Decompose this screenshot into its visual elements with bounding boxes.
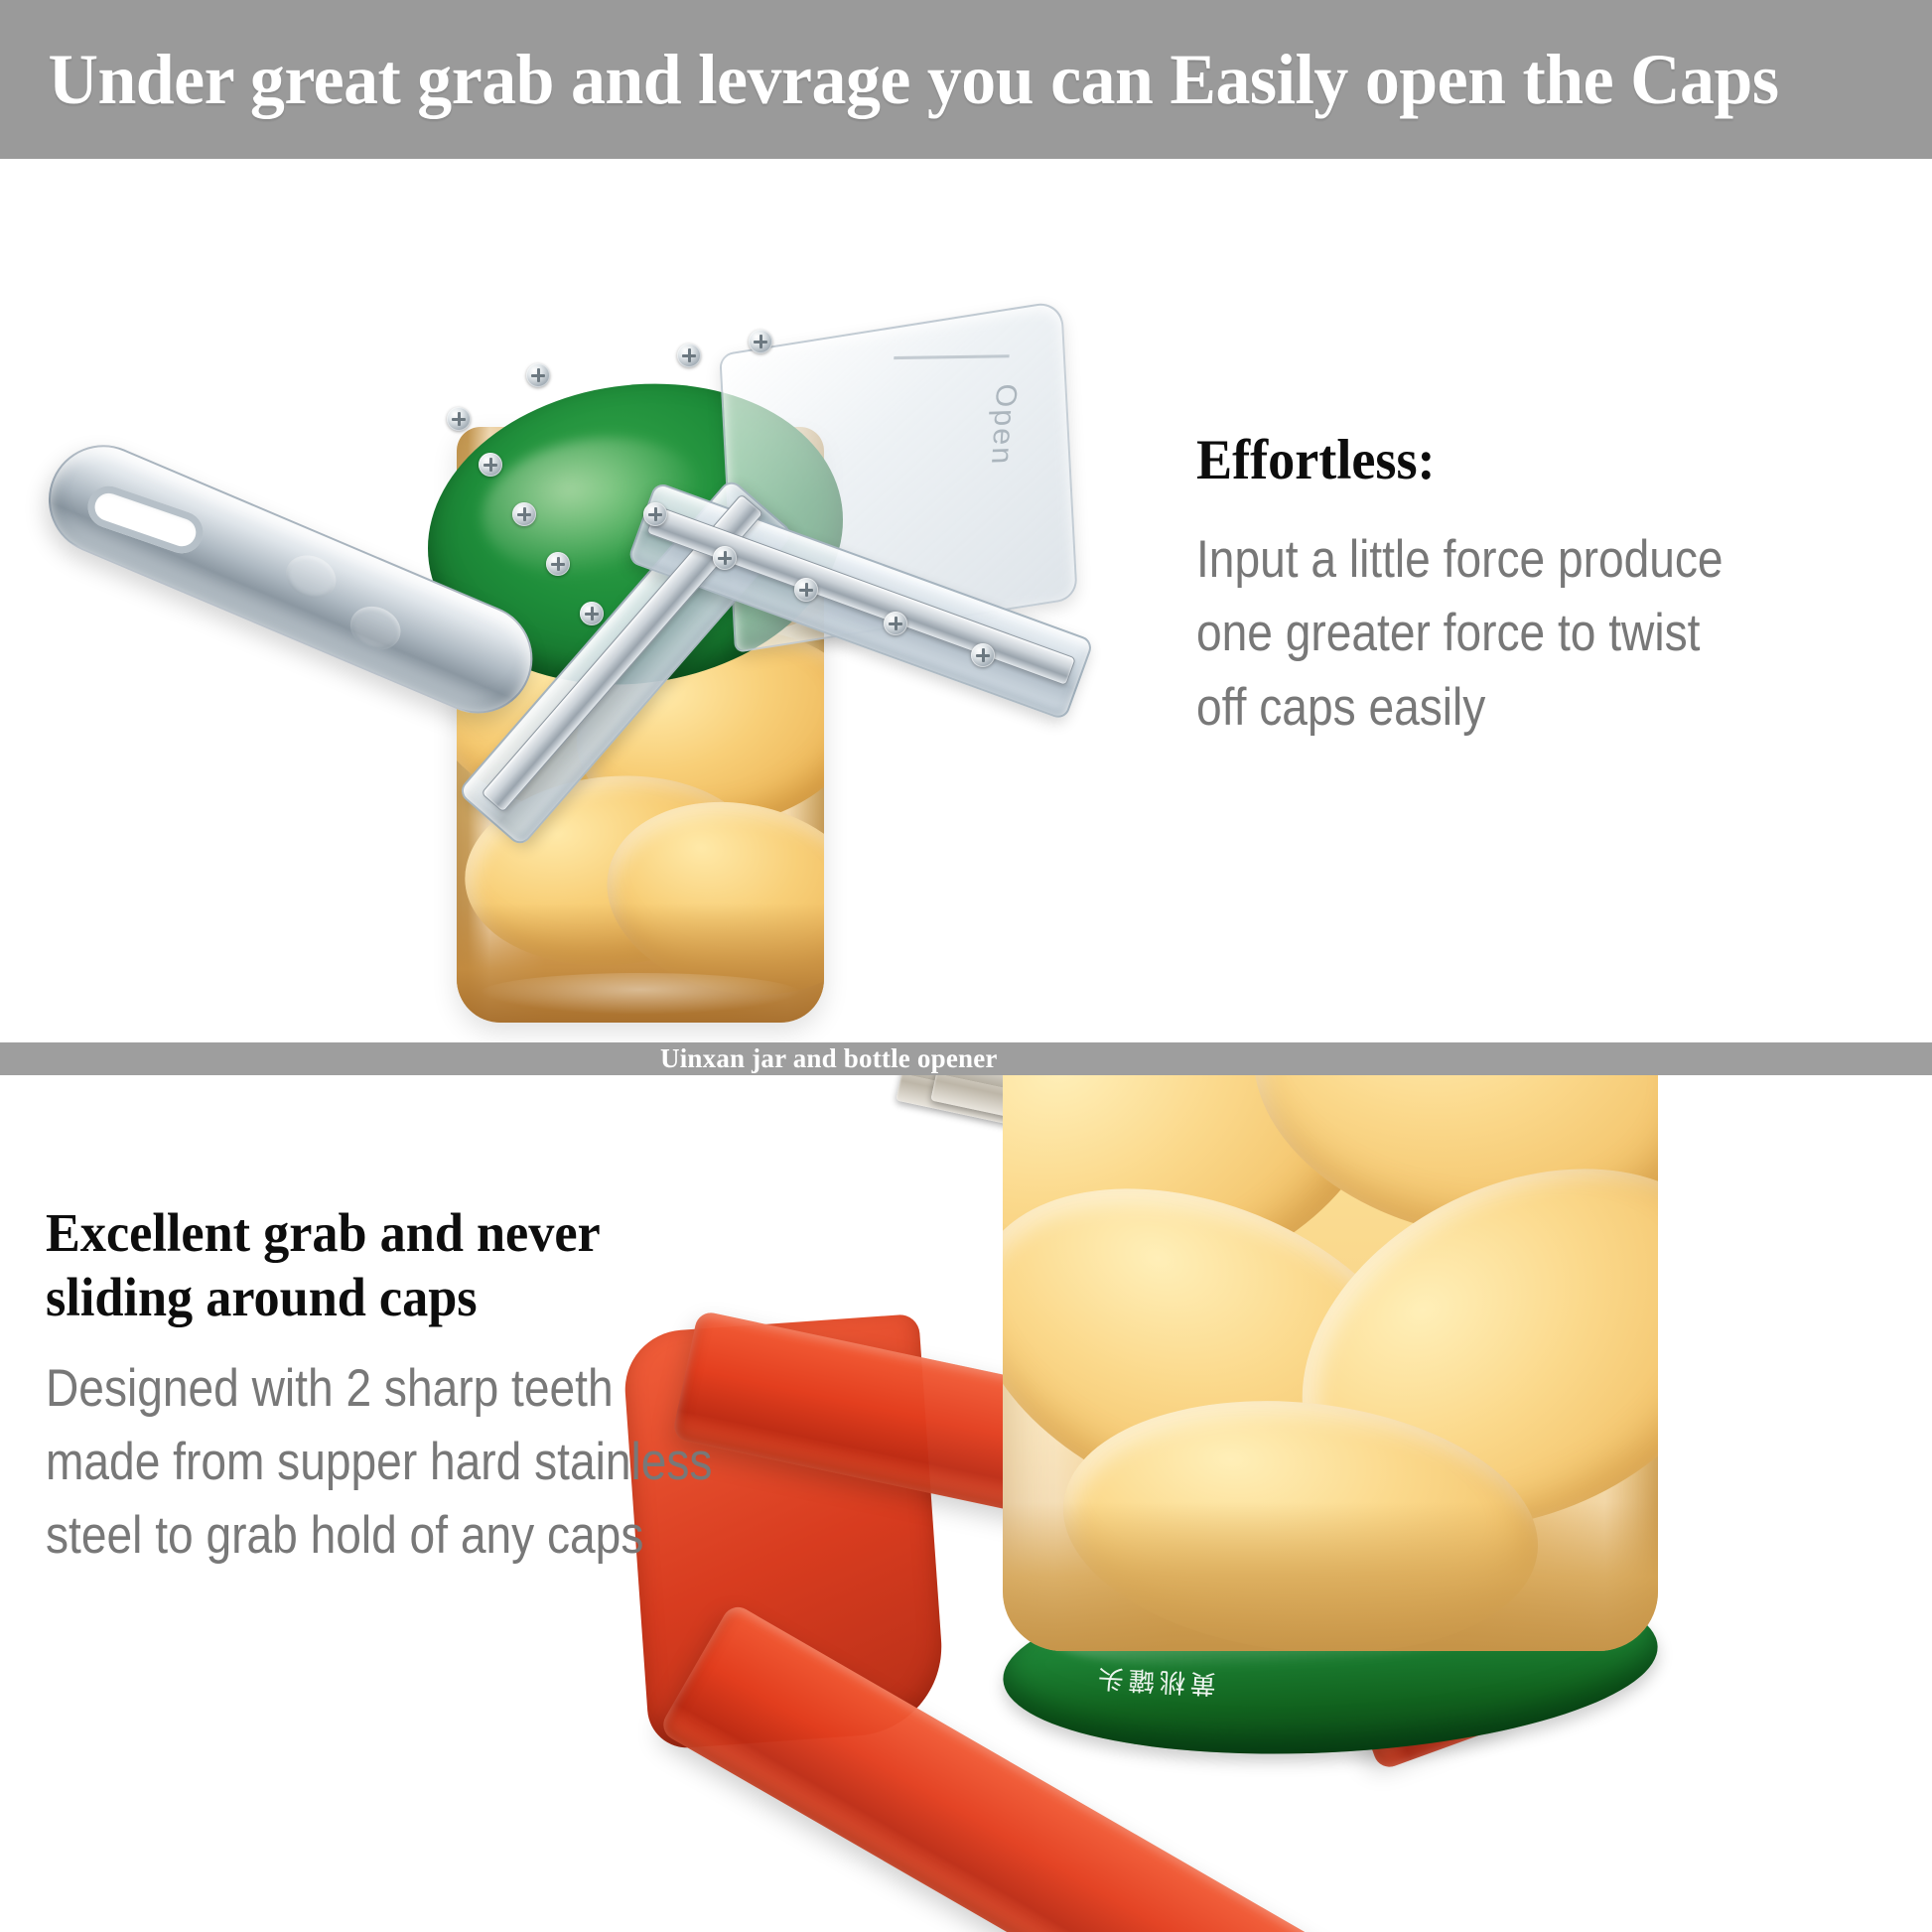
- rivet: [884, 612, 907, 635]
- glass-jar-bottom: [1003, 1075, 1658, 1651]
- syrup-layer: [1003, 1502, 1658, 1651]
- rivet: [971, 643, 995, 667]
- rivet: [713, 546, 737, 570]
- grab-copy-block: Excellent grab and never sliding around …: [46, 1201, 939, 1573]
- effortless-line: one greater force to twist: [1196, 597, 1870, 670]
- handle-dimple: [279, 548, 343, 607]
- grab-heading-line: Excellent grab and never: [46, 1201, 762, 1266]
- grab-line: steel to grab hold of any caps: [46, 1499, 823, 1573]
- grab-line: made from supper hard stainless: [46, 1426, 823, 1499]
- brand-banner-text: Uinxan jar and bottle opener: [0, 1043, 998, 1074]
- rivet: [447, 407, 471, 431]
- product-infographic: Open: [0, 0, 1932, 1932]
- effortless-body: Input a little force produce one greater…: [1196, 523, 1870, 745]
- rivet: [580, 602, 604, 625]
- rivet: [526, 363, 550, 387]
- rivet: [794, 578, 818, 602]
- rivet: [643, 502, 667, 526]
- effortless-copy-block: Effortless: Input a little force produce…: [1196, 427, 1932, 745]
- handle-dimple: [344, 599, 407, 657]
- syrup-layer: [457, 903, 824, 1023]
- effortless-line: off caps easily: [1196, 671, 1870, 745]
- middle-banner: Uinxan jar and bottle opener: [0, 1042, 1932, 1075]
- rivet: [677, 344, 701, 367]
- effortless-heading: Effortless:: [1196, 427, 1932, 493]
- effortless-line: Input a little force produce: [1196, 523, 1870, 597]
- grab-heading-line: sliding around caps: [46, 1266, 762, 1330]
- grab-heading: Excellent grab and never sliding around …: [46, 1201, 762, 1330]
- top-banner: Under great grab and levrage you can Eas…: [0, 0, 1932, 159]
- rivet: [749, 330, 772, 353]
- grab-line: Designed with 2 sharp teeth: [46, 1352, 823, 1426]
- grab-body: Designed with 2 sharp teeth made from su…: [46, 1352, 823, 1574]
- open-emboss-text: Open: [984, 383, 1023, 467]
- handle-hanging-hole: [82, 481, 208, 559]
- top-banner-text: Under great grab and levrage you can Eas…: [0, 39, 1779, 121]
- rivet: [479, 453, 502, 477]
- lid-label-text: 黄桃罐头: [1092, 1661, 1217, 1704]
- open-arrow-mark: [894, 354, 1010, 359]
- rivet: [512, 502, 536, 526]
- rivet: [546, 552, 570, 576]
